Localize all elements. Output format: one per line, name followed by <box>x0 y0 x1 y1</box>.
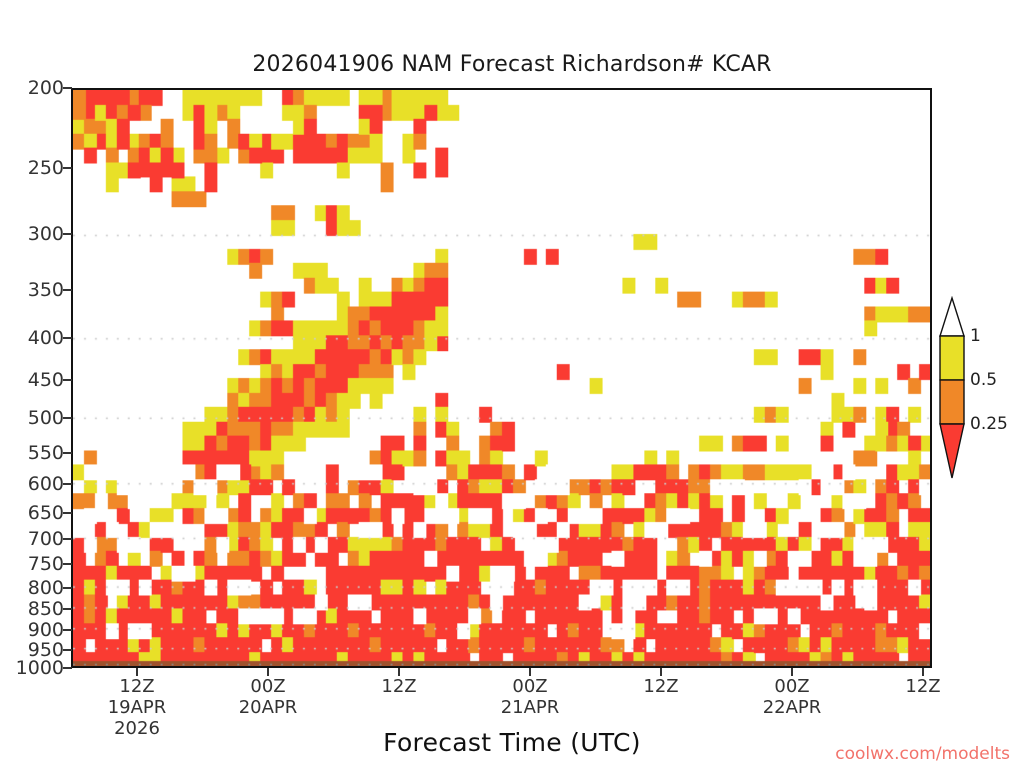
x-tick-label: 12Z <box>381 676 416 697</box>
y-tick-label: 550 <box>28 442 64 464</box>
y-tick-label: 800 <box>28 577 64 599</box>
y-tick-mark <box>63 608 72 610</box>
chart-page: 2026041906 NAM Forecast Richardson# KCAR… <box>0 0 1024 768</box>
y-tick-mark <box>63 587 72 589</box>
y-tick-mark <box>63 87 72 89</box>
colorbar-swatches <box>938 296 968 480</box>
x-tick-date: 19APR <box>108 697 167 718</box>
plot-area <box>71 88 932 668</box>
x-tick-time: 12Z <box>905 676 940 697</box>
y-tick-mark <box>63 483 72 485</box>
y-tick-mark <box>63 512 72 514</box>
y-tick-label: 700 <box>28 528 64 550</box>
x-tick-label: 00Z22APR <box>763 676 822 718</box>
x-tick-label: 12Z <box>905 676 940 697</box>
y-tick-mark <box>63 233 72 235</box>
y-tick-mark <box>63 629 72 631</box>
x-tick-mark <box>267 668 269 676</box>
x-tick-mark <box>398 668 400 676</box>
y-tick-label: 250 <box>28 157 64 179</box>
colorbar-legend: 1 0.5 0.25 <box>938 296 1024 480</box>
x-tick-time: 00Z <box>501 676 560 697</box>
y-tick-mark <box>63 563 72 565</box>
x-tick-time: 00Z <box>763 676 822 697</box>
y-tick-mark <box>63 337 72 339</box>
y-tick-label: 650 <box>28 502 64 524</box>
y-tick-label: 600 <box>28 473 64 495</box>
footer-watermark: coolwx.com/modelts <box>835 744 1010 764</box>
y-tick-mark <box>63 538 72 540</box>
x-tick-mark <box>660 668 662 676</box>
y-tick-mark <box>63 417 72 419</box>
colorbar-label-1: 1 <box>970 326 981 346</box>
x-tick-time: 12Z <box>381 676 416 697</box>
colorbar-label-0.25: 0.25 <box>970 414 1008 434</box>
y-tick-mark <box>63 452 72 454</box>
y-tick-label: 400 <box>28 327 64 349</box>
x-tick-date: 22APR <box>763 697 822 718</box>
y-tick-mark <box>63 289 72 291</box>
x-tick-mark <box>922 668 924 676</box>
x-tick-label: 00Z20APR <box>239 676 298 718</box>
y-tick-label: 350 <box>28 279 64 301</box>
y-tick-label: 450 <box>28 369 64 391</box>
y-tick-mark <box>63 649 72 651</box>
x-tick-time: 12Z <box>643 676 678 697</box>
y-tick-label: 500 <box>28 407 64 429</box>
y-tick-label: 200 <box>28 77 64 99</box>
y-tick-label: 850 <box>28 598 64 620</box>
heatmap-canvas <box>73 90 930 666</box>
x-tick-mark <box>136 668 138 676</box>
x-tick-date: 20APR <box>239 697 298 718</box>
y-tick-label: 300 <box>28 223 64 245</box>
x-tick-label: 12Z <box>643 676 678 697</box>
y-tick-label: 1000 <box>16 657 64 679</box>
x-tick-time: 12Z <box>108 676 167 697</box>
x-tick-time: 00Z <box>239 676 298 697</box>
colorbar-label-0.5: 0.5 <box>970 370 997 390</box>
x-tick-label: 00Z21APR <box>501 676 560 718</box>
y-axis-labels: 2002503003504004505005506006507007508008… <box>0 88 64 668</box>
y-tick-label: 750 <box>28 553 64 575</box>
x-tick-mark <box>791 668 793 676</box>
x-tick-mark <box>529 668 531 676</box>
y-tick-mark <box>63 379 72 381</box>
y-tick-mark <box>63 167 72 169</box>
x-tick-date: 21APR <box>501 697 560 718</box>
page-title: 2026041906 NAM Forecast Richardson# KCAR <box>0 52 1024 77</box>
